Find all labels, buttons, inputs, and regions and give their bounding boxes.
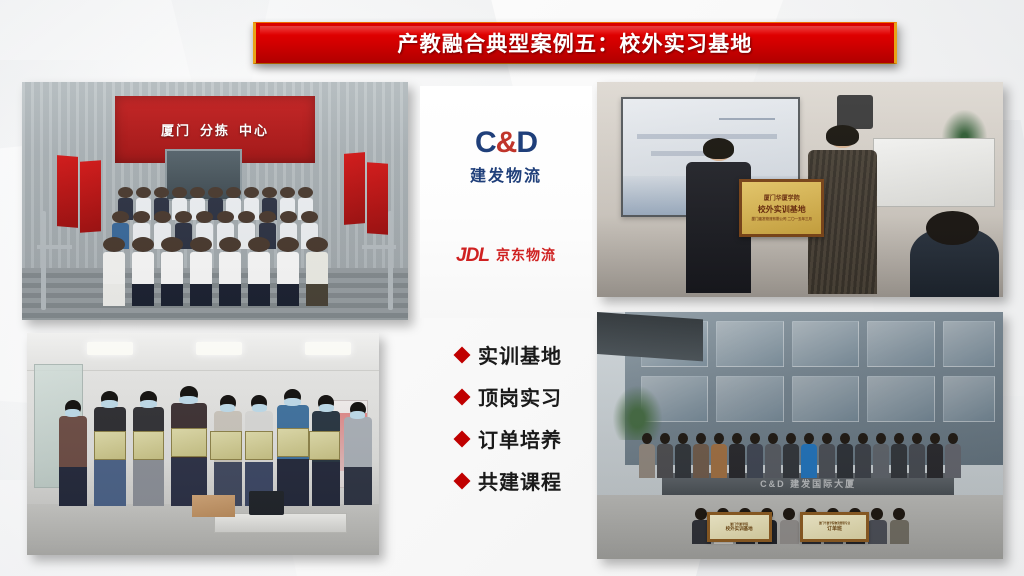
cd-mark-d: D <box>516 126 537 159</box>
cd-mark-ampersand: & <box>496 126 517 159</box>
whiteboard <box>873 138 995 207</box>
jdl-logo-mark: JDL <box>456 246 489 265</box>
cd-logo-chinese: 建发物流 <box>470 162 542 186</box>
ceiling-light <box>305 342 351 355</box>
bullet-label: 订单培养 <box>478 424 562 453</box>
person <box>868 508 887 544</box>
person <box>780 508 799 544</box>
bullet-label: 共建课程 <box>478 466 562 495</box>
bullet-item-dinggang-shixi: 顶岗实习 <box>456 382 562 411</box>
monitor <box>249 491 284 515</box>
slide-canvas: 产教融合典型案例五：校外实习基地 厦门 分拣 中心 <box>0 0 1024 576</box>
person <box>219 237 241 306</box>
title-banner: 产教融合典型案例五：校外实习基地 <box>253 22 897 64</box>
person <box>927 433 943 478</box>
person <box>277 237 299 306</box>
certificate <box>94 431 126 460</box>
plaque-right-line-2: 订单班 <box>827 525 842 532</box>
banner-char-group: 中心 <box>239 120 269 139</box>
person <box>855 433 871 478</box>
person <box>306 237 328 306</box>
bullet-item-dingdan-peiyang: 订单培养 <box>456 424 562 453</box>
photo-plaque-ceremony: 厦门华厦学院 校外实训基地 厦门建发物流有限公司 二〇一五年三月 <box>597 82 1003 297</box>
bullet-label: 实训基地 <box>478 340 562 369</box>
photo-scene: 厦门 分拣 中心 <box>22 82 408 320</box>
jdl-logo-chinese: 京东物流 <box>496 245 556 265</box>
person <box>190 237 212 306</box>
person <box>801 433 817 478</box>
person <box>639 433 655 478</box>
award-plaque-left: 厦门华厦学院 校外实训基地 <box>707 512 772 542</box>
diamond-bullet-icon <box>454 388 471 405</box>
plaque-left-line-2: 校外实训基地 <box>726 526 753 532</box>
people-row-standing <box>597 433 1003 478</box>
cardboard-box <box>192 495 234 517</box>
audience-head <box>926 211 979 245</box>
person <box>675 433 691 478</box>
person <box>59 400 87 507</box>
person <box>891 433 907 478</box>
person <box>945 433 961 478</box>
person <box>657 433 673 478</box>
person <box>729 433 745 478</box>
logo-panel: C&D 建发物流 JDL 京东物流 <box>420 86 592 318</box>
diamond-bullet-icon <box>454 346 471 363</box>
photo-certificate-ceremony <box>27 333 379 555</box>
person <box>837 433 853 478</box>
person <box>132 237 154 306</box>
certificate <box>277 428 309 457</box>
cd-logo: C&D 建发物流 <box>420 120 592 194</box>
ceiling-light <box>196 342 242 355</box>
bullet-label: 顶岗实习 <box>478 382 562 411</box>
person <box>747 433 763 478</box>
photo-group-outdoor: C&D 建发国际大厦 <box>597 312 1003 559</box>
certificate <box>309 431 341 460</box>
person <box>103 237 125 306</box>
banner-char-group: 厦门 <box>161 120 191 139</box>
person <box>693 433 709 478</box>
ceiling-light <box>87 342 133 355</box>
person <box>161 237 183 306</box>
plaque-line-1: 厦门华厦学院 <box>764 193 800 202</box>
person <box>765 433 781 478</box>
award-plaque-right: 厦门华厦学院物流管理专业 订单班 <box>800 512 869 542</box>
bullet-item-shixun-jidi: 实训基地 <box>456 340 562 369</box>
certificate <box>210 431 242 460</box>
person <box>344 402 372 506</box>
certificate <box>133 431 165 460</box>
person <box>909 433 925 478</box>
entrance-canopy <box>597 312 703 361</box>
person <box>248 237 270 306</box>
certificate <box>171 428 206 457</box>
page-title: 产教融合典型案例五：校外实习基地 <box>397 28 752 58</box>
bullet-list: 实训基地 顶岗实习 订单培养 共建课程 <box>456 340 562 495</box>
photo-sorting-center: 厦门 分拣 中心 <box>22 82 408 320</box>
cd-mark-c: C <box>475 126 496 159</box>
bullet-item-gongjian-kecheng: 共建课程 <box>456 466 562 495</box>
plaque-line-3: 厦门建发物流有限公司 二〇一五年三月 <box>751 217 811 222</box>
cd-logo-mark: C&D <box>475 128 537 158</box>
diamond-bullet-icon <box>454 430 471 447</box>
person <box>819 433 835 478</box>
jdl-logo: JDL 京东物流 <box>420 226 592 284</box>
photo-scene: 厦门华厦学院 校外实训基地 厦门建发物流有限公司 二〇一五年三月 <box>597 82 1003 297</box>
person <box>711 433 727 478</box>
photo-scene: C&D 建发国际大厦 <box>597 312 1003 559</box>
person <box>890 508 909 544</box>
award-plaque: 厦门华厦学院 校外实训基地 厦门建发物流有限公司 二〇一五年三月 <box>739 179 824 237</box>
person <box>783 433 799 478</box>
person <box>873 433 889 478</box>
people-row <box>22 237 408 306</box>
certificate <box>245 431 273 460</box>
plaque-line-2: 校外实训基地 <box>758 204 806 215</box>
banner-char-group: 分拣 <box>200 120 230 139</box>
photo-scene <box>27 333 379 555</box>
jdl-logo-row: JDL 京东物流 <box>456 245 556 265</box>
diamond-bullet-icon <box>454 472 471 489</box>
